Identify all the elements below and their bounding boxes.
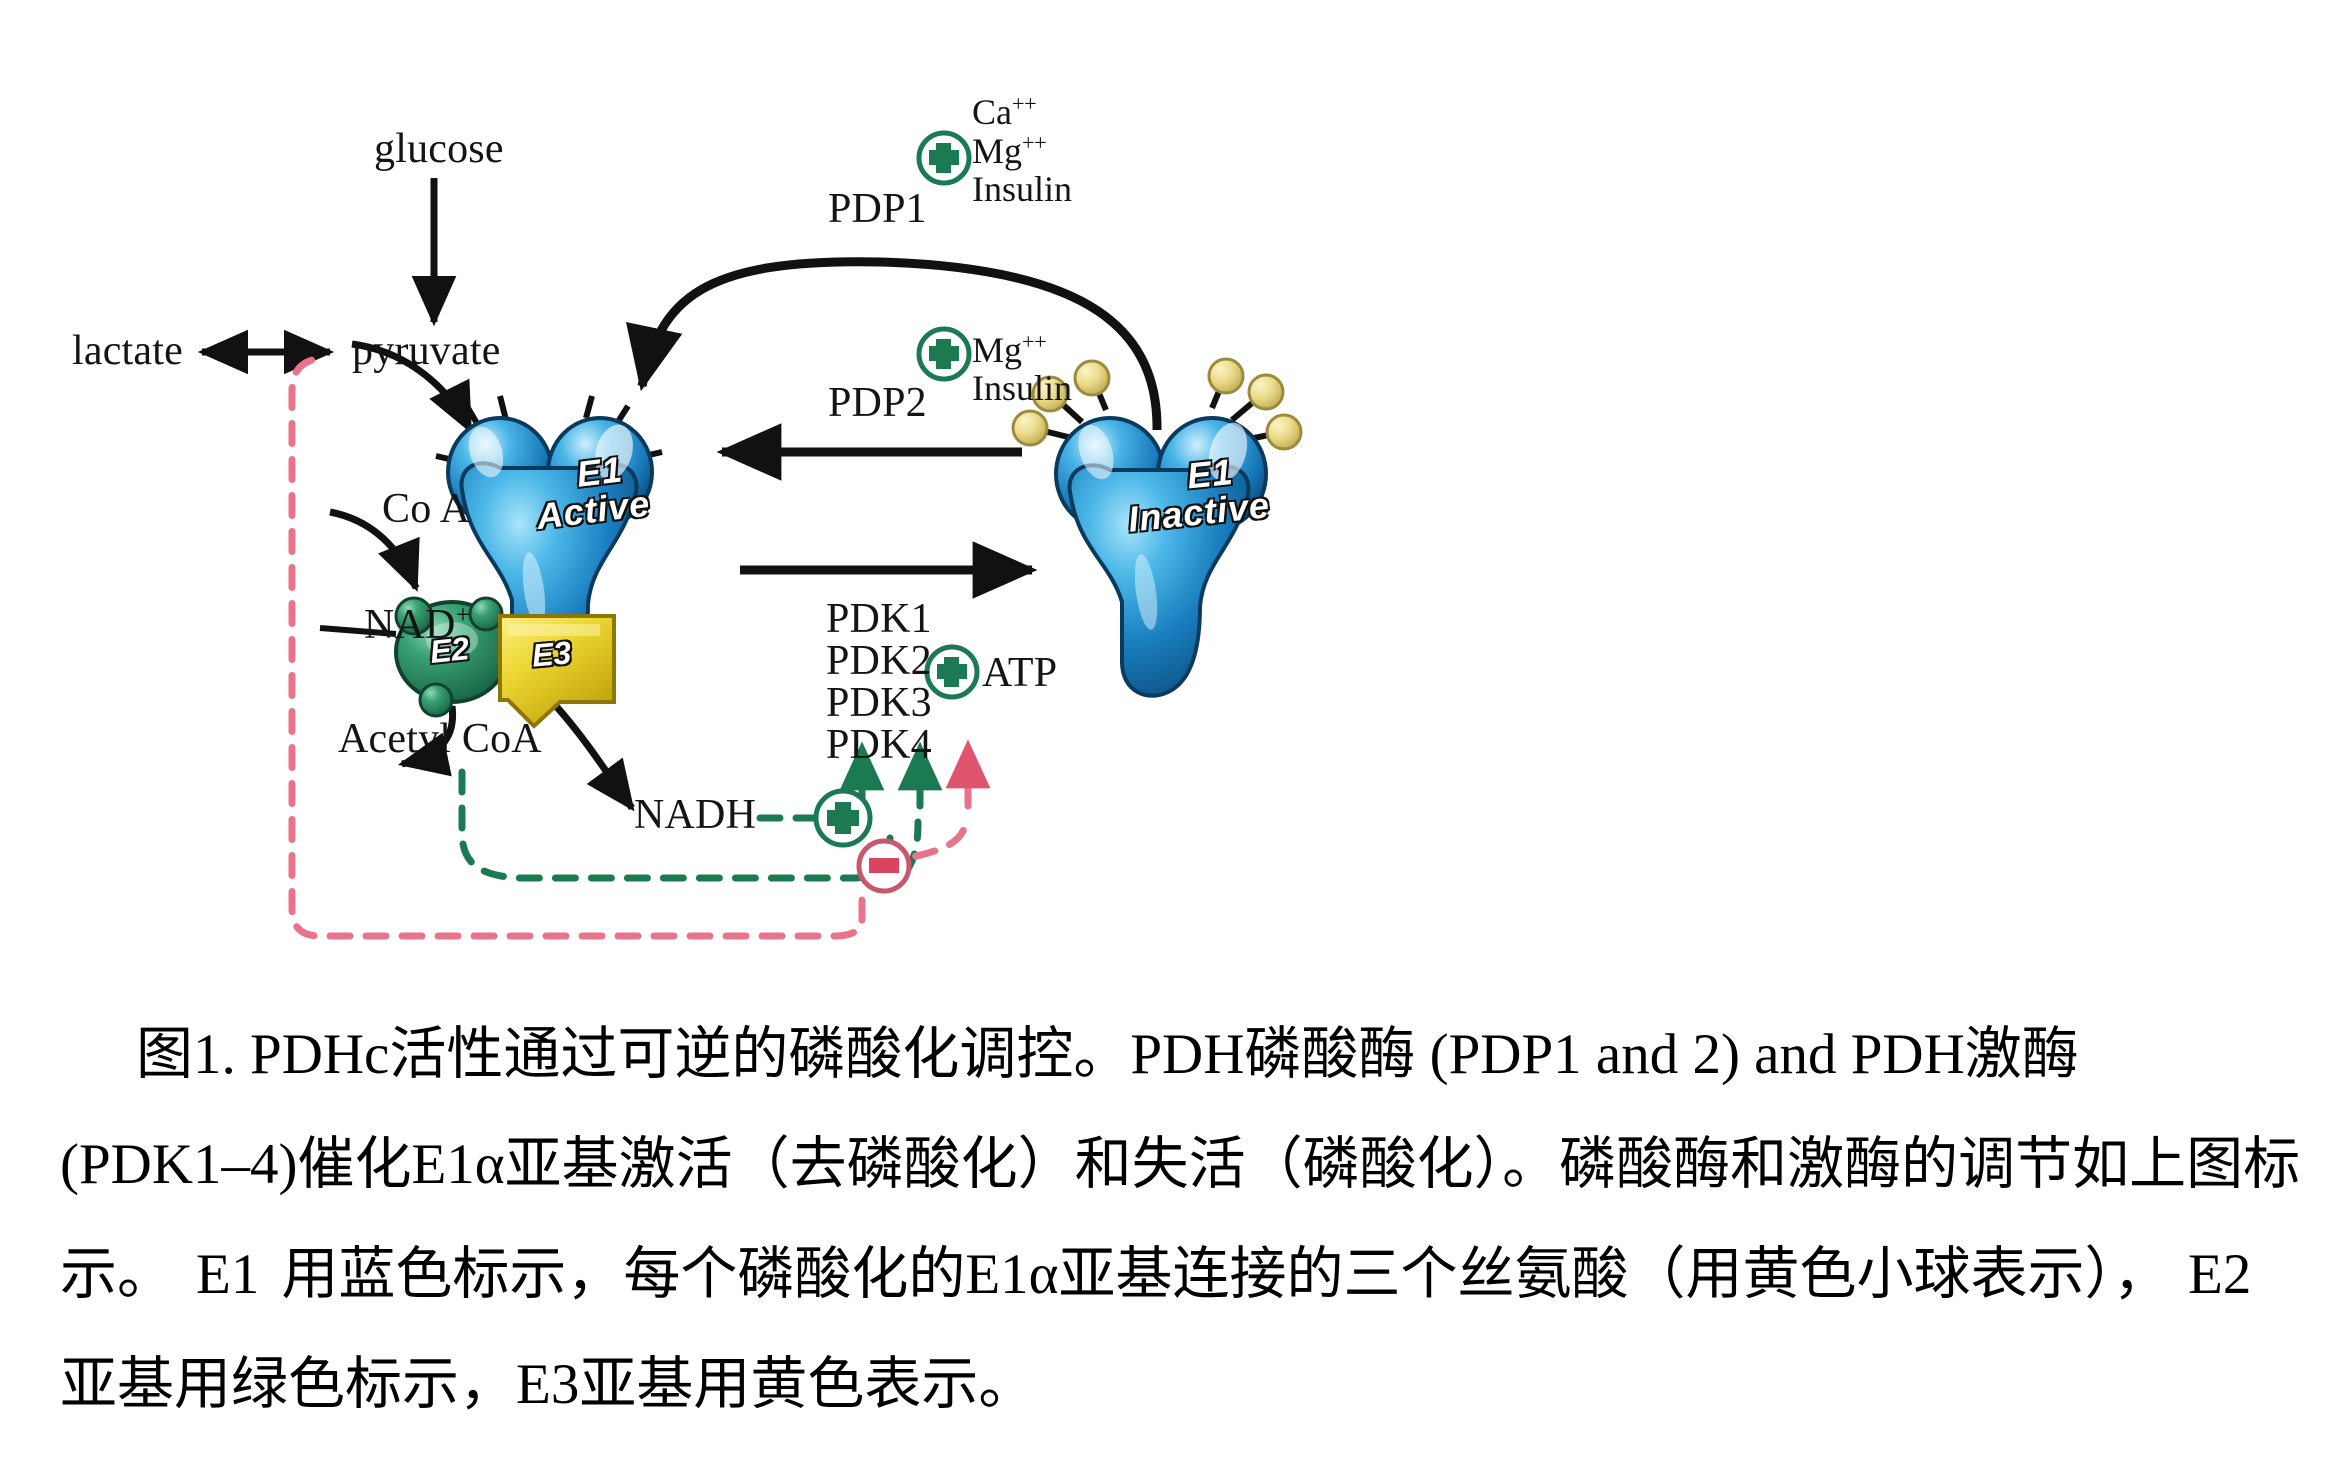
caption-line-3-part2: E1 — [174, 1243, 281, 1306]
label-e2: E2 — [428, 630, 471, 671]
label-co-a: Co A — [382, 488, 470, 530]
caption-line-2: (PDK1–4)催化E1α亚基激活（去磷酸化）和失活（磷酸化）。磷酸酶和激酶的调… — [60, 1110, 2268, 1220]
label-lactate: lactate — [72, 330, 183, 372]
label-pdk1: PDK1 — [826, 598, 932, 640]
plus-icon-pdp2 — [919, 329, 969, 379]
label-nadh: NADH — [634, 794, 756, 836]
pdp1-activator-list: Ca++ Mg++ Insulin — [972, 92, 1072, 208]
caption-line-3-part1: 示。 — [60, 1243, 174, 1306]
plus-icon-pdp1 — [919, 133, 969, 183]
figure-page: glucose lactate pyruvate Co A NAD+ Acety… — [0, 0, 2328, 1478]
pdk-list: PDK1 PDK2 PDK3 PDK4 — [826, 598, 932, 766]
pdp1-activator-ca: Ca++ — [972, 92, 1072, 131]
label-e1-inactive: E1 Inactive — [1152, 450, 1271, 535]
label-e1-active: E1 Active — [552, 449, 652, 533]
plus-icon-atp — [927, 647, 977, 697]
pdp1-activator-insulin: Insulin — [972, 170, 1072, 208]
label-pdp1: PDP1 — [828, 188, 927, 230]
pathway-diagram: glucose lactate pyruvate Co A NAD+ Acety… — [0, 0, 2328, 980]
label-glucose: glucose — [374, 128, 504, 170]
label-pdk3: PDK3 — [826, 682, 932, 724]
caption-line-1: 图1. PDHc活性通过可逆的磷酸化调控。PDH磷酸酶 (PDP1 and 2)… — [60, 1000, 2268, 1110]
caption-line-3-part3: 用蓝色标示，每个磷酸化的E1α亚基连接的三个丝氨酸（用黄色小球表示）， — [281, 1243, 2170, 1306]
arrow-e3-to-nadh — [556, 706, 632, 808]
caption-line-3: 示。E1用蓝色标示，每个磷酸化的E1α亚基连接的三个丝氨酸（用黄色小球表示），E… — [60, 1220, 2268, 1330]
pdp2-activator-mg: Mg++ — [972, 330, 1072, 369]
label-pdk4: PDK4 — [826, 724, 932, 766]
label-pyruvate: pyruvate — [352, 330, 501, 372]
label-pdp2: PDP2 — [828, 382, 927, 424]
pdp2-activator-list: Mg++ Insulin — [972, 330, 1072, 407]
plus-icon-nadh — [816, 791, 870, 845]
caption-line-4: 亚基用绿色标示，E3亚基用黄色表示。 — [60, 1330, 2268, 1440]
label-e3: E3 — [530, 634, 572, 674]
pdp1-activator-mg: Mg++ — [972, 131, 1072, 170]
pdp2-activator-insulin: Insulin — [972, 369, 1072, 407]
label-nad-plus-charge: + — [456, 600, 470, 629]
label-atp: ATP — [982, 652, 1057, 694]
caption-line-3-part4: E2 — [2170, 1243, 2251, 1306]
figure-caption: 图1. PDHc活性通过可逆的磷酸化调控。PDH磷酸酶 (PDP1 and 2)… — [0, 980, 2328, 1478]
label-acetyl-coa: Acetyl CoA — [338, 718, 542, 760]
minus-icon-inhibition — [859, 841, 909, 891]
label-pdk2: PDK2 — [826, 640, 932, 682]
